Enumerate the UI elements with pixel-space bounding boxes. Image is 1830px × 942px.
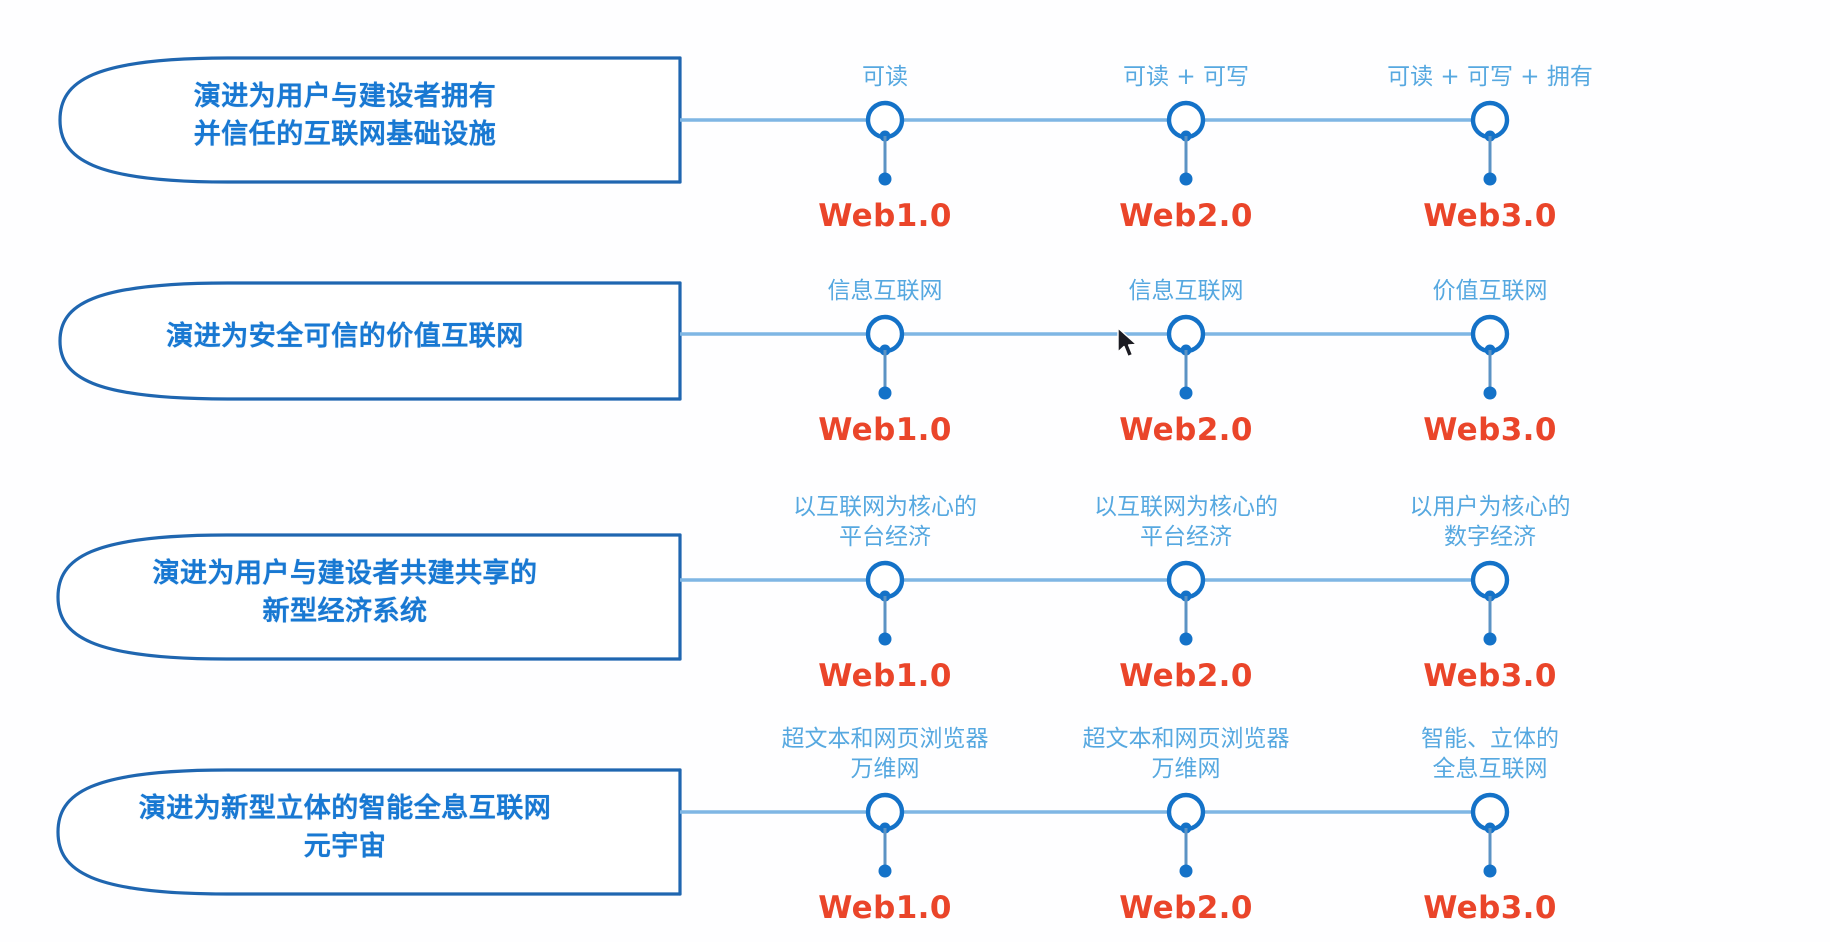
timeline-node-3[interactable] xyxy=(1473,317,1507,400)
node-caption-line: 万维网 xyxy=(1083,754,1290,784)
timeline-node-2[interactable] xyxy=(1169,563,1203,646)
timeline-node-2[interactable] xyxy=(1169,317,1203,400)
timeline-node-3[interactable] xyxy=(1473,795,1507,878)
row-ellipse-label-line: 并信任的互联网基础设施 xyxy=(0,116,690,154)
node-caption: 信息互联网 xyxy=(828,276,943,306)
node-caption: 超文本和网页浏览器万维网 xyxy=(782,724,989,784)
timeline-node-1[interactable] xyxy=(868,795,902,878)
row-ellipse-label-line: 演进为用户与建设者拥有 xyxy=(0,78,690,116)
node-caption: 超文本和网页浏览器万维网 xyxy=(1083,724,1290,784)
node-caption-line: 以互联网为核心的 xyxy=(793,492,977,522)
node-caption-line: 以互联网为核心的 xyxy=(1094,492,1278,522)
timeline-node-1[interactable] xyxy=(868,563,902,646)
timeline-node-3[interactable] xyxy=(1473,563,1507,646)
node-bottom-dot-icon xyxy=(879,387,892,400)
web-version-label: Web2.0 xyxy=(1119,658,1253,694)
node-caption-line: 平台经济 xyxy=(793,522,977,552)
web-version-label: Web1.0 xyxy=(818,198,952,234)
node-caption: 价值互联网 xyxy=(1433,276,1548,306)
timeline-node-2[interactable] xyxy=(1169,103,1203,186)
node-bottom-dot-icon xyxy=(1180,173,1193,186)
row-ellipse-label-line: 演进为安全可信的价值互联网 xyxy=(0,318,690,356)
node-bottom-dot-icon xyxy=(879,865,892,878)
node-caption-line: 平台经济 xyxy=(1094,522,1278,552)
node-caption-line: 智能、立体的 xyxy=(1421,724,1559,754)
node-bottom-dot-icon xyxy=(1180,387,1193,400)
node-caption-line: 可读 xyxy=(862,62,908,92)
timeline-node-1[interactable] xyxy=(868,103,902,186)
node-caption: 以互联网为核心的平台经济 xyxy=(793,492,977,552)
node-caption: 可读 + 可写 xyxy=(1123,62,1249,92)
row-ellipse-label: 演进为用户与建设者拥有并信任的互联网基础设施 xyxy=(0,78,690,154)
web-version-label: Web1.0 xyxy=(818,412,952,448)
node-bottom-dot-icon xyxy=(879,173,892,186)
web-version-label: Web1.0 xyxy=(818,890,952,926)
node-caption: 以互联网为核心的平台经济 xyxy=(1094,492,1278,552)
node-caption: 信息互联网 xyxy=(1129,276,1244,306)
timeline-node-1[interactable] xyxy=(868,317,902,400)
web-version-label: Web2.0 xyxy=(1119,198,1253,234)
node-caption-line: 信息互联网 xyxy=(1129,276,1244,306)
node-caption-line: 万维网 xyxy=(782,754,989,784)
node-caption: 可读 + 可写 + 拥有 xyxy=(1387,62,1593,92)
web-version-label: Web2.0 xyxy=(1119,890,1253,926)
row-ellipse-label-line: 新型经济系统 xyxy=(0,593,690,631)
web-version-label: Web2.0 xyxy=(1119,412,1253,448)
row-ellipse-label: 演进为安全可信的价值互联网 xyxy=(0,318,690,356)
node-caption: 智能、立体的全息互联网 xyxy=(1421,724,1559,784)
row-ellipse-label-line: 元宇宙 xyxy=(0,828,690,866)
node-caption-line: 超文本和网页浏览器 xyxy=(1083,724,1290,754)
node-bottom-dot-icon xyxy=(1180,865,1193,878)
node-caption-line: 可读 + 可写 xyxy=(1123,62,1249,92)
row-ellipse-label-line: 演进为用户与建设者共建共享的 xyxy=(0,555,690,593)
node-caption-line: 信息互联网 xyxy=(828,276,943,306)
web-version-label: Web1.0 xyxy=(818,658,952,694)
node-bottom-dot-icon xyxy=(1484,387,1497,400)
timeline-node-3[interactable] xyxy=(1473,103,1507,186)
node-bottom-dot-icon xyxy=(1484,865,1497,878)
node-bottom-dot-icon xyxy=(879,633,892,646)
row-ellipse-label: 演进为用户与建设者共建共享的新型经济系统 xyxy=(0,555,690,631)
node-caption-line: 可读 + 可写 + 拥有 xyxy=(1387,62,1593,92)
web-version-label: Web3.0 xyxy=(1423,198,1557,234)
node-caption-line: 超文本和网页浏览器 xyxy=(782,724,989,754)
row-ellipse-label: 演进为新型立体的智能全息互联网元宇宙 xyxy=(0,790,690,866)
timeline-node-2[interactable] xyxy=(1169,795,1203,878)
node-bottom-dot-icon xyxy=(1180,633,1193,646)
node-bottom-dot-icon xyxy=(1484,633,1497,646)
web-version-label: Web3.0 xyxy=(1423,890,1557,926)
node-caption-line: 价值互联网 xyxy=(1433,276,1548,306)
web-version-label: Web3.0 xyxy=(1423,412,1557,448)
web-version-label: Web3.0 xyxy=(1423,658,1557,694)
node-caption-line: 数字经济 xyxy=(1410,522,1571,552)
row-ellipse-label-line: 演进为新型立体的智能全息互联网 xyxy=(0,790,690,828)
node-caption: 以用户为核心的数字经济 xyxy=(1410,492,1571,552)
diagram-canvas: 演进为用户与建设者拥有并信任的互联网基础设施可读Web1.0可读 + 可写Web… xyxy=(0,0,1830,942)
node-caption: 可读 xyxy=(862,62,908,92)
node-caption-line: 以用户为核心的 xyxy=(1410,492,1571,522)
node-caption-line: 全息互联网 xyxy=(1421,754,1559,784)
node-bottom-dot-icon xyxy=(1484,173,1497,186)
